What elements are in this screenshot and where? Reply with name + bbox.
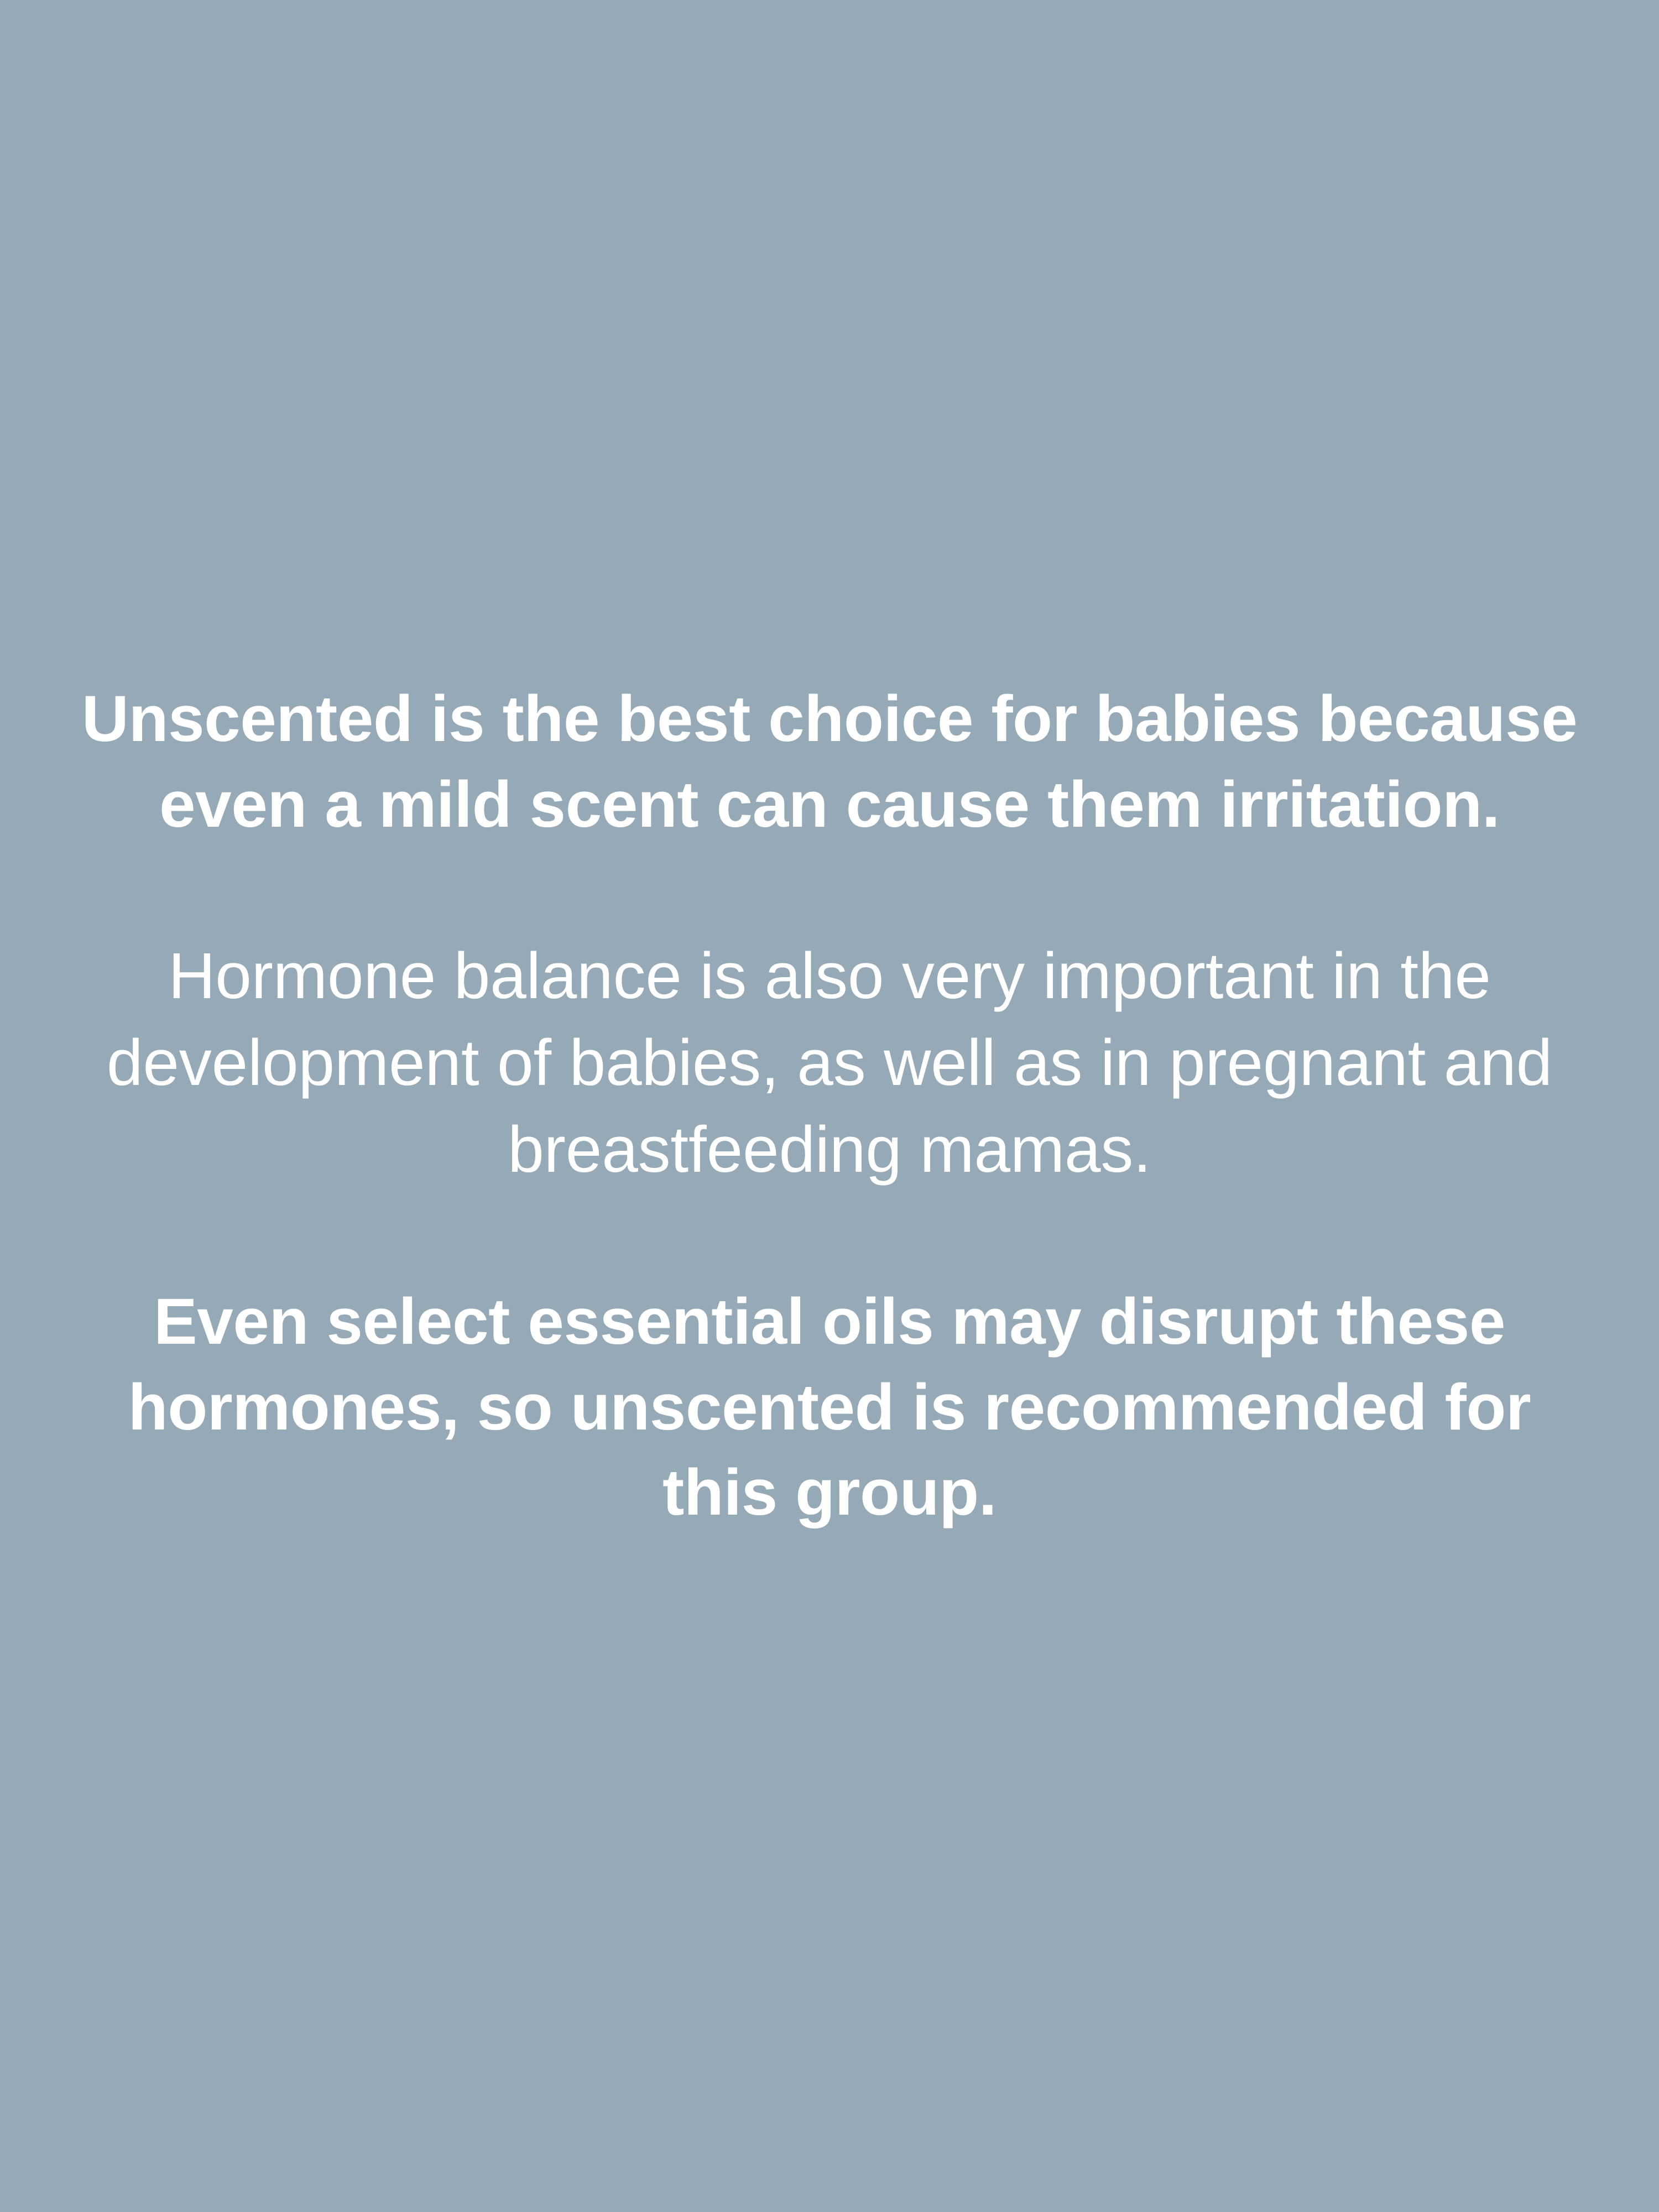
paragraph-essential-oils-disrupt: Even select essential oils may disrupt t…: [66, 1279, 1593, 1536]
paragraph-unscented-best-choice: Unscented is the best choice for babies …: [66, 676, 1593, 847]
paragraph-hormone-balance: Hormone balance is also very important i…: [66, 933, 1593, 1193]
text-graphic-slide: Unscented is the best choice for babies …: [0, 0, 1659, 2212]
paragraph-spacer-1: [66, 847, 1593, 933]
paragraph-spacer-2: [66, 1193, 1593, 1279]
text-content-block: Unscented is the best choice for babies …: [66, 676, 1593, 1536]
